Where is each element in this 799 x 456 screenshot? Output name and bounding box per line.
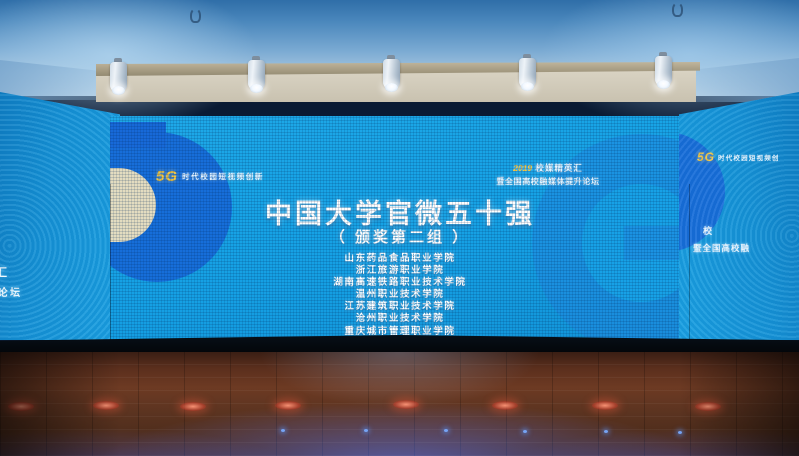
forum-subtitle: 暨全国高校融媒体提升论坛	[458, 176, 638, 187]
list-item: 沧州职业技术学院	[110, 314, 690, 324]
list-item: 温州职业技术学院	[110, 290, 690, 300]
header-logo-5g: 5G 时代校园短视频创新	[156, 168, 264, 185]
list-item: 浙江旅游职业学院	[110, 266, 690, 276]
floor-blue-dot	[364, 429, 368, 432]
floor-blue-dot	[604, 430, 608, 433]
right-panel-logo-5g: 5G 时代校园短视频创	[697, 150, 780, 164]
ceiling-hook	[672, 2, 683, 17]
floor-blue-dot	[523, 430, 527, 433]
right-logo-5g-mark: 5G	[697, 150, 715, 164]
led-video-wall: 创新 媒精英汇 媒体提升论坛 5G 时代校园短视频创新 2019 校媒精英汇	[0, 92, 799, 340]
floor-light-reflection	[592, 401, 618, 410]
floor-light-reflection	[275, 401, 301, 410]
floor-shadow-left	[0, 352, 120, 456]
floor-light-reflection	[492, 401, 518, 410]
right-panel-row1: 校	[703, 224, 713, 237]
watermark-5-bar	[110, 122, 166, 148]
floor-shadow-right	[679, 352, 799, 456]
led-panel-left: 创新 媒精英汇 媒体提升论坛	[0, 92, 120, 340]
spotlight	[655, 56, 672, 90]
floor-blue-dot	[444, 429, 448, 432]
stage-scene: 创新 媒精英汇 媒体提升论坛 5G 时代校园短视频创新 2019 校媒精英汇	[0, 0, 799, 456]
spotlight	[383, 59, 400, 93]
forum-title-row: 2019 校媒精英汇	[458, 162, 638, 174]
spotlight	[248, 60, 265, 94]
right-logo-5g-tagline: 时代校园短视频创	[718, 152, 780, 162]
left-panel-line3: 媒体提升论坛	[0, 284, 22, 299]
moire-pattern-left	[0, 92, 120, 340]
floor-light-reflection	[393, 400, 419, 409]
right-panel-row2: 暨全国高校融	[693, 242, 750, 254]
winners-list: 山东药品食品职业学院 浙江旅游职业学院 湖南高速铁路职业技术学院 温州职业技术学…	[110, 254, 690, 340]
list-item: 江苏建筑职业技术学院	[110, 302, 690, 312]
spotlight-lens	[657, 80, 670, 89]
list-item: 山东药品食品职业学院	[110, 254, 690, 264]
list-item: 重庆城市管理职业学院	[110, 327, 690, 337]
spotlight-lens	[385, 83, 398, 92]
ceiling-hook	[190, 8, 201, 23]
floor-blue-dot	[281, 429, 285, 432]
led-panel-center: 5G 时代校园短视频创新 2019 校媒精英汇 暨全国高校融媒体提升论坛 中国大…	[110, 116, 690, 340]
logo-5g-tagline: 时代校园短视频创新	[182, 171, 264, 182]
led-panel-right: 5G 时代校园短视频创 校 暨全国高校融	[679, 92, 799, 340]
list-item: 湖南高速铁路职业技术学院	[110, 278, 690, 288]
forum-title: 校媒精英汇	[535, 163, 583, 173]
header-logo-forum: 2019 校媒精英汇 暨全国高校融媒体提升论坛	[458, 162, 638, 187]
spotlight	[110, 62, 127, 96]
award-subtitle: （ 颁奖第二组 ）	[110, 226, 690, 247]
forum-year: 2019	[513, 163, 532, 173]
logo-5g-mark: 5G	[156, 168, 178, 185]
spotlight	[519, 58, 536, 92]
spotlight-lens	[521, 82, 534, 91]
floor-light-reflection	[180, 402, 206, 411]
left-panel-line2: 媒精英汇	[0, 264, 10, 280]
